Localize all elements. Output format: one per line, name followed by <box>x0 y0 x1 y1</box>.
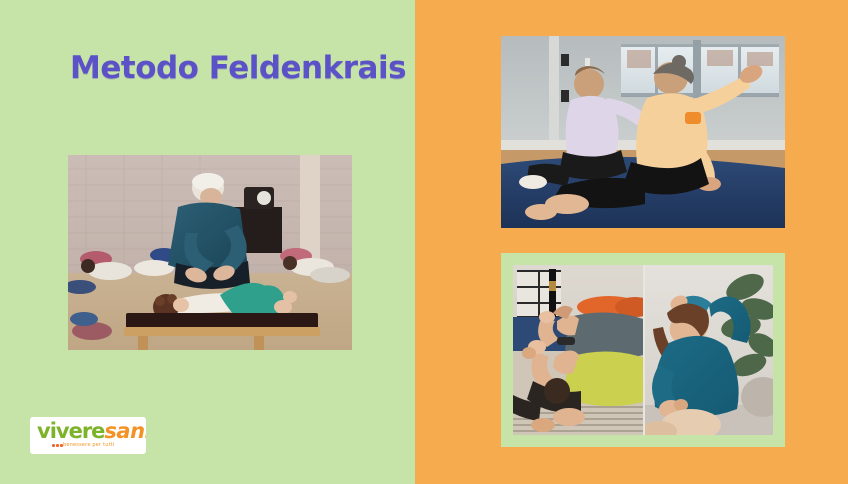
slide: Metodo Feldenkrais <box>0 0 848 484</box>
logo-tagline: benessere per tutti <box>63 442 115 449</box>
floor-stretch-and-side-bend-photo <box>513 265 773 435</box>
floor-stretch-photo-frame <box>501 253 785 447</box>
logo-dots-icon <box>52 444 63 447</box>
logo-word-vivere: vivere <box>37 419 104 443</box>
feldenkrais-hands-on-lesson-photo <box>68 155 352 350</box>
page-title: Metodo Feldenkrais <box>70 50 400 86</box>
logo-word-sani: sani <box>104 419 146 443</box>
viveresani-logo[interactable]: viveresani benessere per tutti <box>30 417 146 454</box>
logo-wordmark: viveresani <box>37 420 146 443</box>
seated-twist-class-photo <box>501 36 785 228</box>
